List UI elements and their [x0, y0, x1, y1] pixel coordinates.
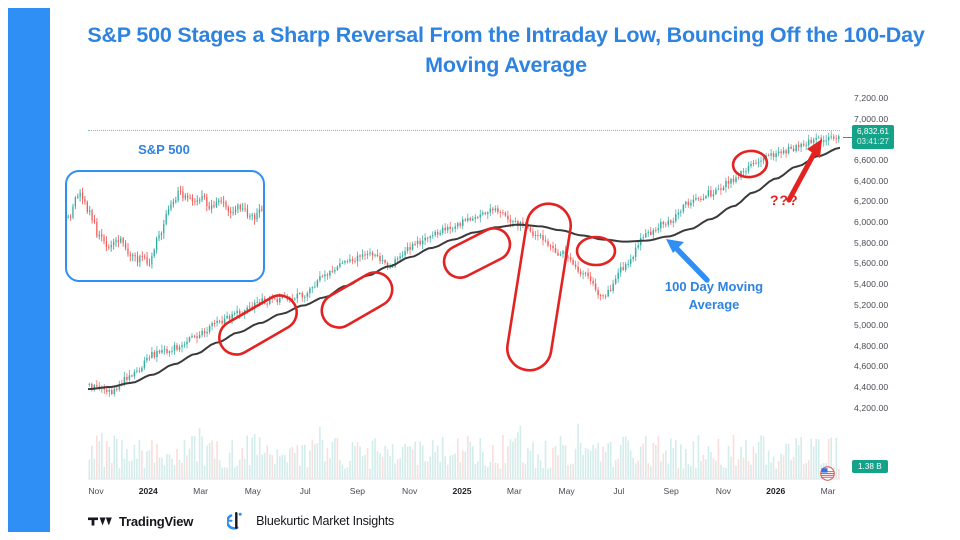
inset-title: S&P 500 — [104, 142, 224, 157]
publisher-brand[interactable]: Bluekurtic Market Insights — [227, 511, 394, 531]
x-axis-tick: Mar — [507, 486, 522, 496]
y-axis-tick: 5,200.00 — [854, 300, 888, 310]
moving-average-annotation: 100 Day Moving Average — [638, 278, 790, 314]
x-axis-tick: Nov — [402, 486, 417, 496]
y-axis-tick: 4,800.00 — [854, 341, 888, 351]
x-axis-tick: Sep — [663, 486, 678, 496]
tradingview-brand[interactable]: TradingView — [88, 514, 193, 529]
x-axis-tick: Nov — [88, 486, 103, 496]
ma-annotation-line1: 100 Day Moving — [638, 278, 790, 296]
y-axis-tick: 6,200.00 — [854, 196, 888, 206]
y-axis-tick: 4,400.00 — [854, 382, 888, 392]
screenshot-root: S&P 500 Stages a Sharp Reversal From the… — [0, 0, 960, 540]
y-axis-tick: 5,400.00 — [854, 279, 888, 289]
question-marks-annotation: ??? — [770, 192, 799, 208]
y-axis-tick: 5,000.00 — [854, 320, 888, 330]
current-price-time: 03:41:27 — [857, 137, 889, 147]
x-axis-tick: Nov — [716, 486, 731, 496]
current-volume-badge: 1.38 B — [852, 460, 888, 473]
y-axis-tick: 6,600.00 — [854, 155, 888, 165]
tradingview-logo-icon — [88, 514, 112, 528]
y-axis-tick: 7,200.00 — [854, 93, 888, 103]
y-axis-tick: 5,600.00 — [854, 258, 888, 268]
left-accent-rail — [8, 8, 50, 532]
bluekurtic-logo-icon — [227, 511, 249, 531]
x-axis-tick: May — [558, 486, 574, 496]
y-axis-tick: 6,000.00 — [854, 217, 888, 227]
x-axis-tick: Mar — [821, 486, 836, 496]
inset-chart-box[interactable] — [65, 170, 265, 282]
y-axis-tick: 7,000.00 — [854, 114, 888, 124]
x-axis[interactable]: Nov2024MarMayJulSepNov2025MarMayJulSepNo… — [88, 486, 840, 502]
x-axis-tick: 2025 — [452, 486, 471, 496]
current-price-badge: 6,832.61 03:41:27 — [852, 125, 894, 149]
x-axis-tick: Jul — [613, 486, 624, 496]
footer: TradingView Bluekurtic Market Insights — [88, 508, 394, 534]
page-title: S&P 500 Stages a Sharp Reversal From the… — [64, 20, 948, 80]
x-axis-tick: Mar — [193, 486, 208, 496]
tradingview-label: TradingView — [119, 514, 193, 529]
volume-svg — [88, 418, 840, 480]
y-axis-tick: 4,600.00 — [854, 361, 888, 371]
publisher-label: Bluekurtic Market Insights — [256, 514, 394, 528]
x-axis-tick: Jul — [300, 486, 311, 496]
y-axis-tick: 6,400.00 — [854, 176, 888, 186]
x-axis-tick: 2026 — [766, 486, 785, 496]
x-axis-tick: 2024 — [139, 486, 158, 496]
ma-annotation-line2: Average — [638, 296, 790, 314]
volume-plot — [88, 418, 840, 480]
x-axis-tick: Sep — [350, 486, 365, 496]
us-flag-icon — [820, 466, 835, 481]
y-axis-tick: 5,800.00 — [854, 238, 888, 248]
y-axis[interactable]: 7,200.007,000.006,600.006,400.006,200.00… — [844, 88, 960, 480]
inset-candlestick-svg — [67, 172, 263, 280]
current-price-value: 6,832.61 — [857, 127, 889, 137]
x-axis-tick: May — [245, 486, 261, 496]
y-axis-tick: 4,200.00 — [854, 403, 888, 413]
